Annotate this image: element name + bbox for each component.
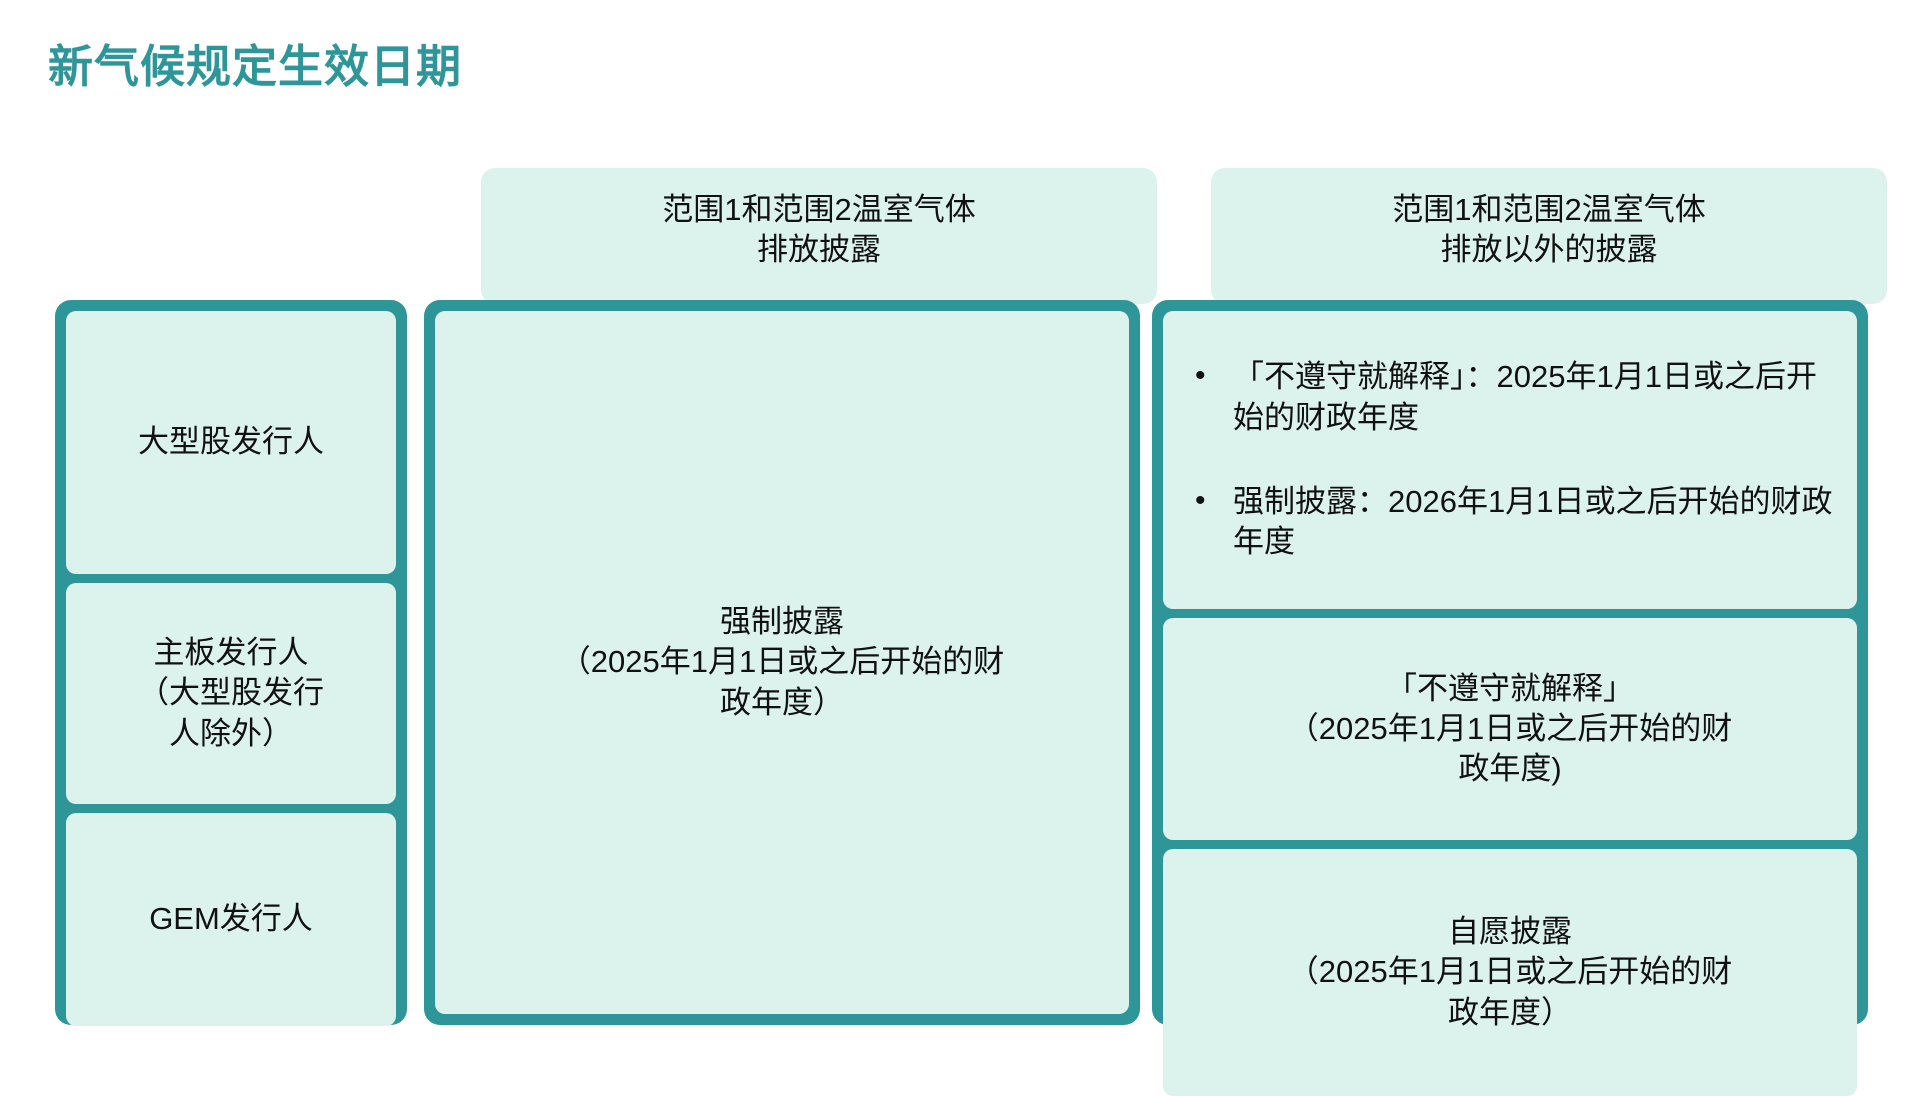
list-item: 「不遵守就解释」：2025年1月1日或之后开始的财政年度 (1189, 357, 1839, 438)
other-disclosures-column-group: 「不遵守就解释」：2025年1月1日或之后开始的财政年度 强制披露：2026年1… (1152, 300, 1868, 1025)
column-header-scope12: 范围1和范围2温室气体 排放披露 (481, 168, 1157, 304)
issuer-row-large-cap: 大型股发行人 (66, 311, 396, 574)
column-header-other-disclosures: 范围1和范围2温室气体 排放以外的披露 (1211, 168, 1887, 304)
other-requirement-cell-gem: 自愿披露 （2025年1月1日或之后开始的财 政年度） (1163, 849, 1857, 1096)
other-requirement-cell-main-board: 「不遵守就解释」 （2025年1月1日或之后开始的财 政年度) (1163, 618, 1857, 840)
issuer-row-main-board: 主板发行人 （大型股发行 人除外） (66, 583, 396, 804)
scope12-requirement-cell: 强制披露 （2025年1月1日或之后开始的财 政年度） (435, 311, 1129, 1014)
page-title: 新气候规定生效日期 (48, 30, 462, 95)
issuer-category-group: 大型股发行人 主板发行人 （大型股发行 人除外） GEM发行人 (55, 300, 407, 1025)
scope12-column-group: 强制披露 （2025年1月1日或之后开始的财 政年度） (424, 300, 1140, 1025)
other-requirement-bullet-list: 「不遵守就解释」：2025年1月1日或之后开始的财政年度 强制披露：2026年1… (1177, 317, 1843, 603)
issuer-row-gem: GEM发行人 (66, 813, 396, 1026)
list-item: 强制披露：2026年1月1日或之后开始的财政年度 (1189, 482, 1839, 563)
other-requirement-cell-large-cap: 「不遵守就解释」：2025年1月1日或之后开始的财政年度 强制披露：2026年1… (1163, 311, 1857, 609)
